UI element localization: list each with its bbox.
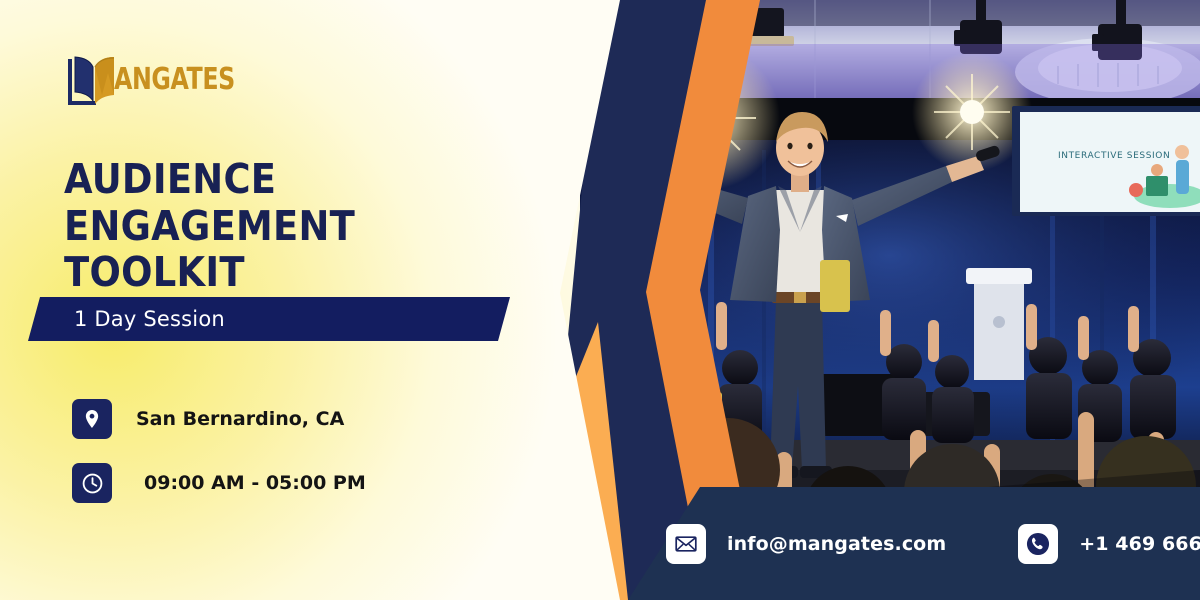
location-row: San Bernardino, CA [72, 398, 366, 440]
yellow-card [820, 260, 850, 312]
logo-wordmark: ANGATES [114, 62, 235, 97]
brand-logo[interactable]: ANGATES [62, 50, 251, 108]
session-label: 1 Day Session [74, 297, 225, 341]
title-line-2: TOOLKIT [64, 248, 245, 296]
time-text: 09:00 AM - 05:00 PM [144, 472, 366, 494]
location-pin-icon [72, 399, 112, 439]
email-contact[interactable]: info@mangates.com [666, 524, 946, 564]
phone-contact[interactable]: +1 469 666 9332 [1018, 524, 1200, 564]
envelope-icon [666, 524, 706, 564]
screen-text: INTERACTIVE SESSION [1058, 151, 1170, 161]
event-title: AUDIENCE ENGAGEMENT TOOLKIT [64, 156, 469, 296]
phone-icon [1018, 524, 1058, 564]
session-ribbon: 1 Day Session [28, 297, 510, 341]
time-row: 09:00 AM - 05:00 PM [72, 462, 366, 504]
title-line-1: AUDIENCE ENGAGEMENT [64, 155, 355, 250]
phone-text: +1 469 666 9332 [1079, 533, 1200, 555]
location-text: San Bernardino, CA [136, 408, 344, 430]
email-text: info@mangates.com [727, 533, 946, 555]
open-book-icon [62, 51, 118, 107]
event-details: San Bernardino, CA 09:00 AM - 05:00 PM [72, 398, 366, 526]
clock-icon [72, 463, 112, 503]
event-banner: INTERACTIVE SESSION [0, 0, 1200, 600]
